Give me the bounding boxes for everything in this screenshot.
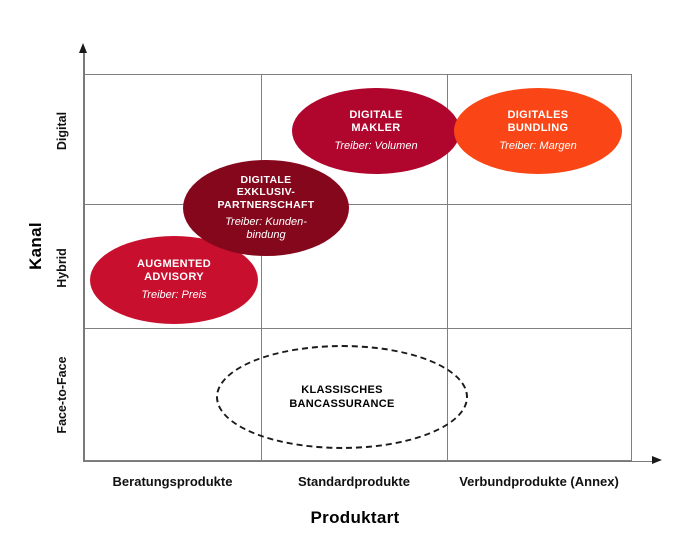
x-axis-tick-verbundprodukte: Verbundprodukte (Annex): [447, 474, 631, 489]
bubble-digitale-makler-title: DIGITALE MAKLER: [349, 109, 402, 136]
x-axis-tick-standardprodukte: Standardprodukte: [261, 474, 447, 489]
y-axis-tick-hybrid: Hybrid: [55, 223, 69, 313]
bubble-digitale-makler-subtitle: Treiber: Volumen: [334, 140, 417, 153]
bubble-digitales-bundling-subtitle: Treiber: Margen: [499, 140, 576, 153]
bubble-digitales-bundling-title: DIGITALES BUNDLING: [507, 109, 568, 136]
chart-canvas: Kanal Digital Hybrid Face-to-Face Beratu…: [0, 0, 700, 555]
bubble-digitale-exklusiv-partnerschaft[interactable]: DIGITALE EXKLUSIV- PARTNERSCHAFT Treiber…: [183, 160, 349, 256]
bubble-digitale-exklusiv-partnerschaft-subtitle: Treiber: Kunden- bindung: [225, 216, 307, 242]
x-axis-tick-beratungsprodukte: Beratungsprodukte: [84, 474, 261, 489]
y-axis-title: Kanal: [26, 201, 46, 291]
y-axis-arrow-icon: [79, 43, 87, 53]
x-axis-title: Produktart: [230, 508, 480, 528]
grid-line-horizontal-hybrid-facetoface: [84, 328, 631, 329]
bubble-digitale-exklusiv-partnerschaft-title: DIGITALE EXKLUSIV- PARTNERSCHAFT: [217, 174, 314, 212]
x-axis-arrow-icon: [652, 456, 662, 464]
bubble-klassisches-bancassurance[interactable]: KLASSISCHES BANCASSURANCE: [216, 345, 468, 449]
bubble-klassisches-bancassurance-title: KLASSISCHES BANCASSURANCE: [289, 383, 394, 412]
bubble-digitale-makler[interactable]: DIGITALE MAKLER Treiber: Volumen: [292, 88, 460, 174]
bubble-augmented-advisory-title: AUGMENTED ADVISORY: [137, 258, 211, 285]
bubble-augmented-advisory-subtitle: Treiber: Preis: [141, 289, 206, 302]
grid-line-horizontal-top: [84, 74, 631, 75]
y-axis-line: [83, 52, 85, 462]
grid-line-vertical-right: [631, 74, 632, 461]
grid-line-horizontal-digital-hybrid: [84, 204, 631, 205]
x-axis-line: [83, 461, 657, 463]
y-axis-tick-digital: Digital: [55, 86, 69, 176]
bubble-digitales-bundling[interactable]: DIGITALES BUNDLING Treiber: Margen: [454, 88, 622, 174]
y-axis-tick-face-to-face: Face-to-Face: [55, 337, 69, 453]
